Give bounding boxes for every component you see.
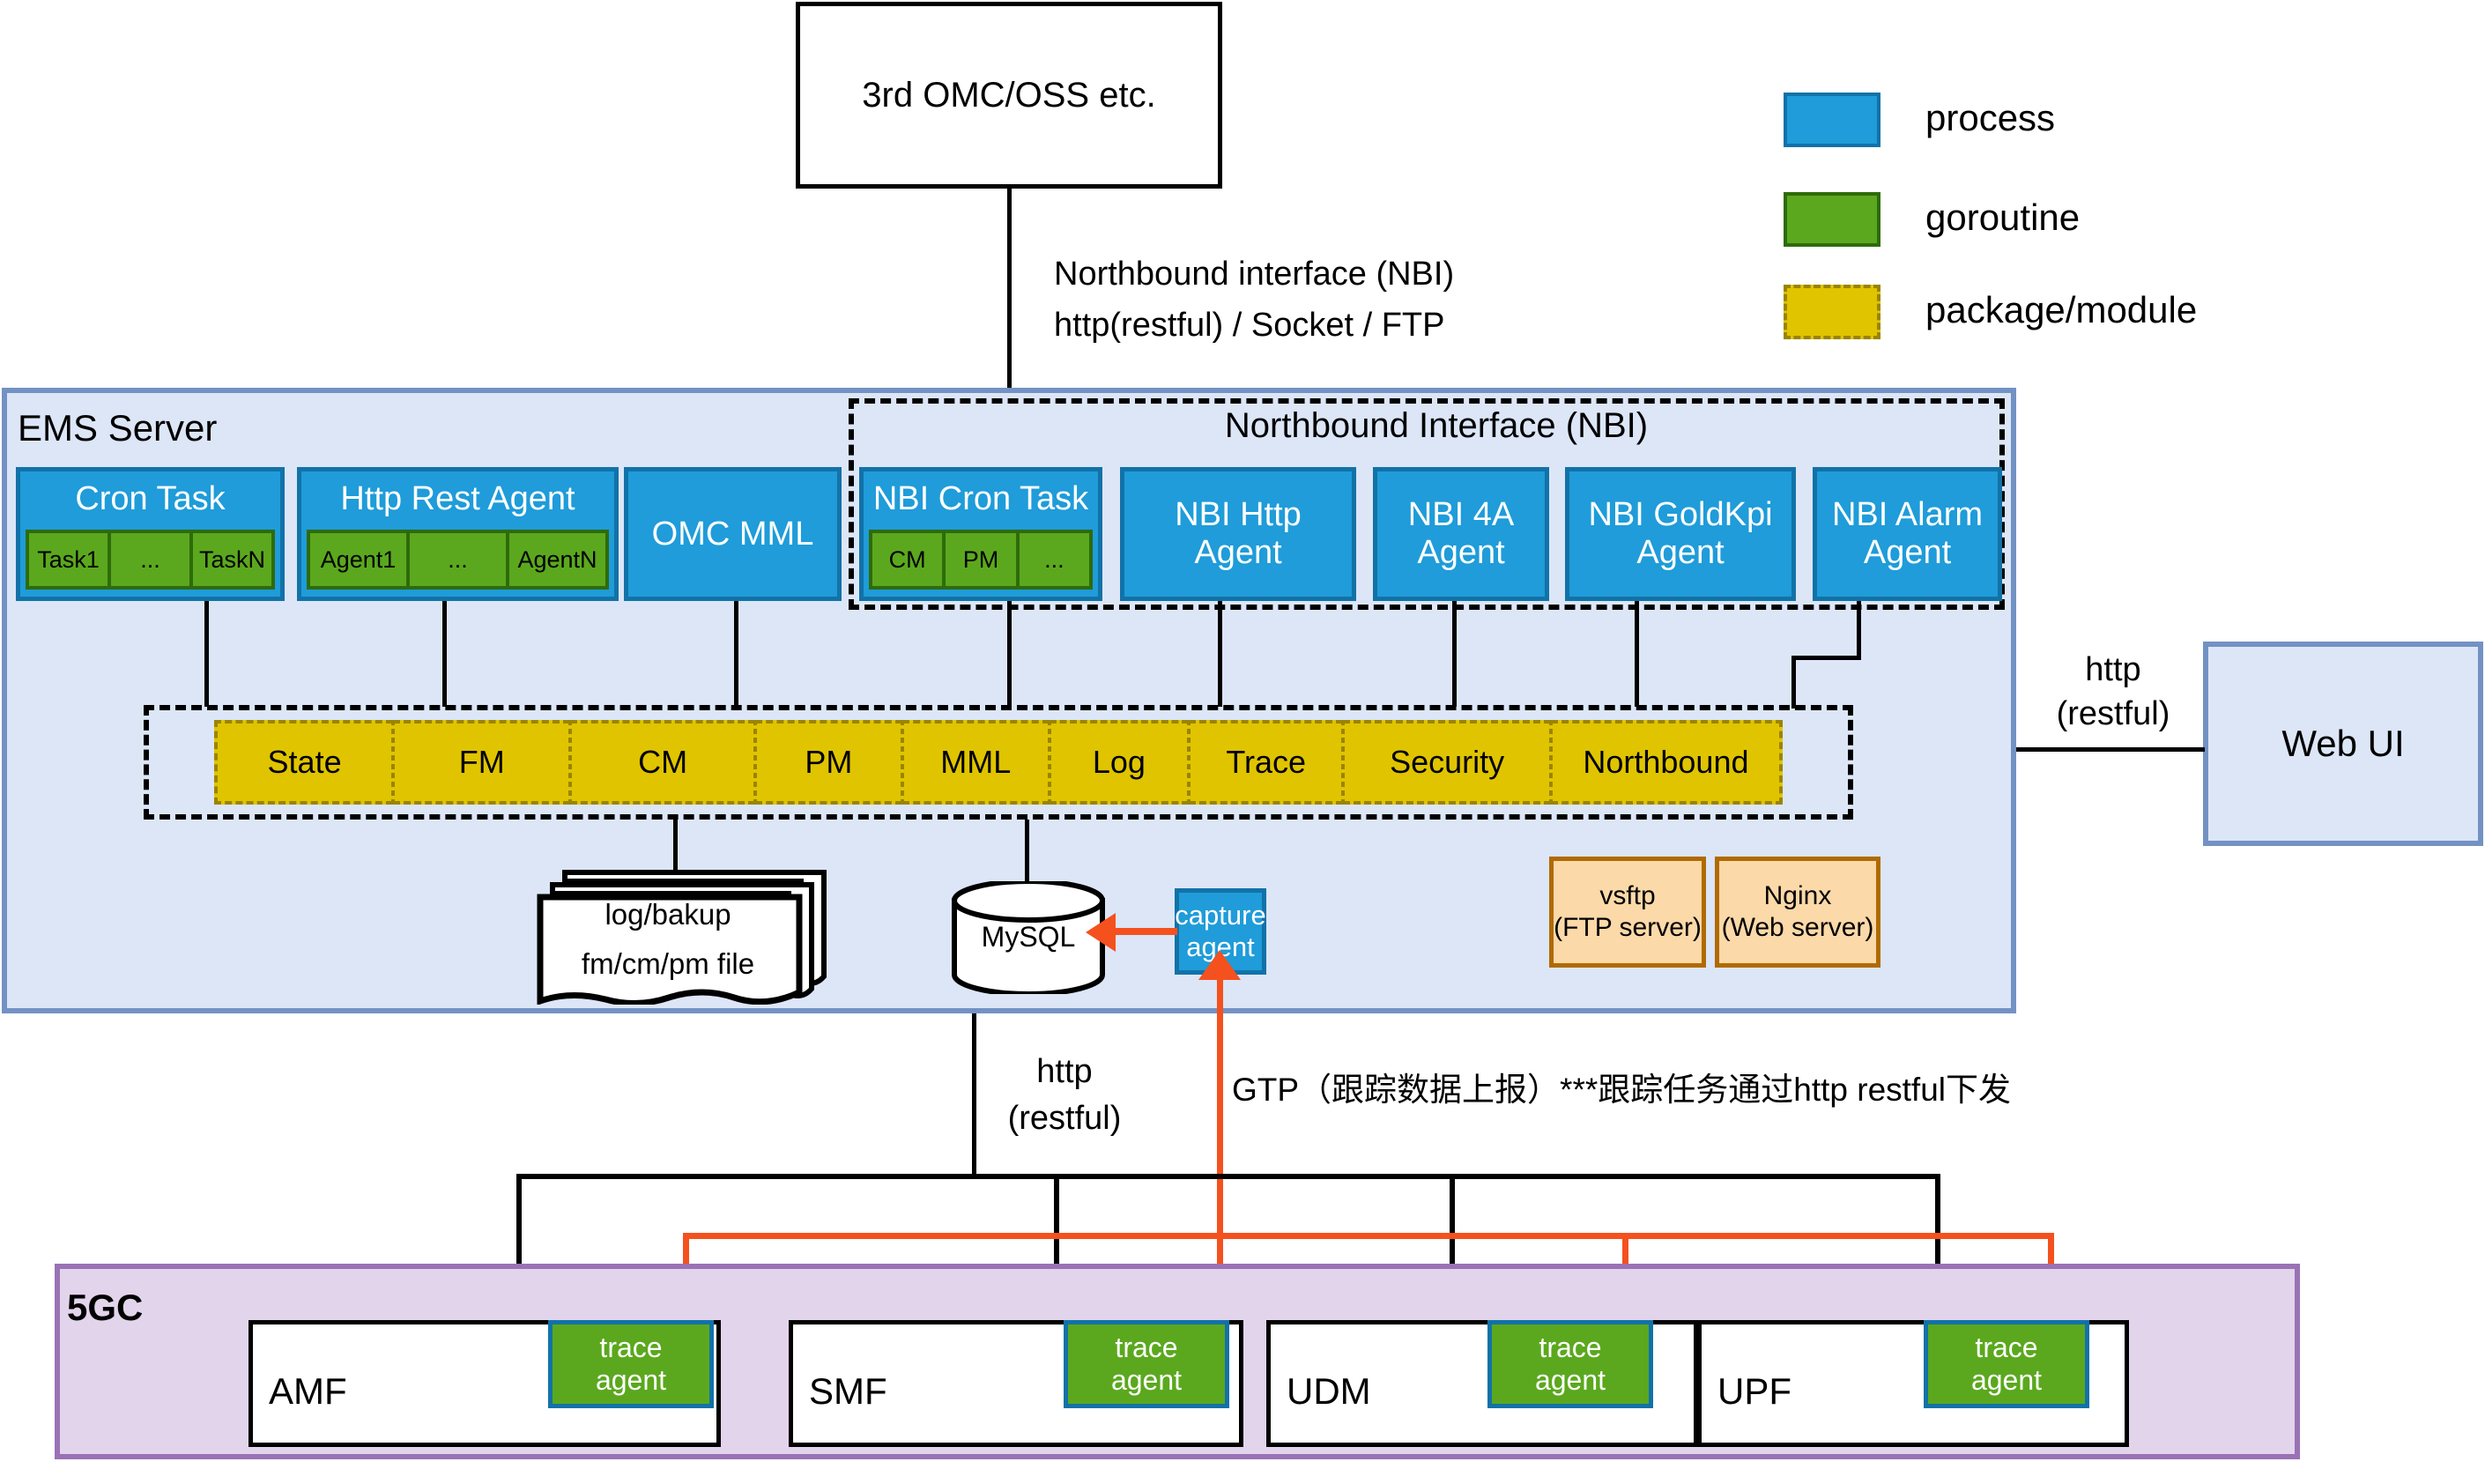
gtp-note-label: GTP（跟踪数据上报）***跟踪任务通过http restful下发 — [1232, 1063, 2011, 1110]
trace-agent-upf-line2: agent — [1971, 1364, 2042, 1397]
connector-omc-mml — [734, 601, 738, 707]
process-omc-mml[interactable]: OMC MML — [624, 467, 842, 601]
process-nbi-alarm-agent[interactable]: NBI Alarm Agent — [1813, 467, 2002, 601]
5gc-title: 5GC — [67, 1287, 143, 1329]
network-function-upf-label: UPF — [1717, 1370, 1791, 1413]
connector-nbi-http-agent — [1218, 601, 1222, 707]
service-nginx[interactable]: Nginx (Web server) — [1715, 857, 1880, 968]
process-nbi-goldkpi-agent-label: NBI GoldKpi Agent — [1569, 496, 1791, 571]
service-vsftp-line2: (FTP server) — [1554, 912, 1702, 944]
process-cron-task[interactable]: Cron Task Task1 ... TaskN — [16, 467, 285, 601]
southbound-orange-bus — [683, 1233, 2054, 1239]
goroutine-chip[interactable]: ... — [408, 530, 508, 590]
ems-server-title: EMS Server — [18, 407, 217, 449]
trace-agent-amf-line2: agent — [596, 1364, 666, 1397]
network-function-amf-label: AMF — [269, 1370, 347, 1413]
goroutine-chip[interactable]: Task1 — [26, 530, 109, 590]
gtp-uplink-line — [1217, 975, 1223, 1234]
module-state[interactable]: State — [214, 720, 393, 805]
module-cm[interactable]: CM — [570, 720, 755, 805]
nbi-uplink-line — [1007, 189, 1012, 398]
module-fm[interactable]: FM — [393, 720, 570, 805]
goroutine-chip[interactable]: PM — [944, 530, 1017, 590]
service-nginx-line2: (Web server) — [1722, 912, 1874, 944]
service-vsftp-line1: vsftp — [1599, 880, 1655, 912]
process-cron-task-label: Cron Task — [20, 471, 280, 526]
nbi-group-title: Northbound Interface (NBI) — [969, 405, 1903, 446]
webui-link-label-line2: (restful) — [2027, 696, 2199, 731]
trace-agent-udm-line1: trace — [1539, 1332, 1601, 1364]
capture-to-mysql-arrow-shaft — [1112, 928, 1177, 935]
gtp-uplink-arrow-head — [1198, 950, 1241, 980]
process-http-rest-agent-label: Http Rest Agent — [301, 471, 614, 526]
connector-http-rest-agent — [442, 601, 447, 707]
module-pm[interactable]: PM — [755, 720, 902, 805]
trace-agent-smf[interactable]: trace agent — [1064, 1320, 1229, 1408]
connector-nbi-alarm-agent-seg3 — [1791, 656, 1796, 709]
mysql-label: MySQL — [949, 922, 1108, 952]
external-omc-oss-box: 3rd OMC/OSS etc. — [796, 2, 1222, 189]
ems-southbound-line — [972, 1013, 976, 1174]
legend-label-process: process — [1925, 97, 2055, 139]
legend-label-package: package/module — [1925, 289, 2197, 331]
goroutine-chip[interactable]: AgentN — [508, 530, 609, 590]
legend-swatch-goroutine — [1784, 192, 1880, 247]
goroutine-chip[interactable]: TaskN — [191, 530, 275, 590]
ems-to-webui-line — [2016, 747, 2205, 752]
trace-agent-udm[interactable]: trace agent — [1487, 1320, 1653, 1408]
legend-label-goroutine: goroutine — [1925, 197, 2080, 239]
process-nbi-goldkpi-agent[interactable]: NBI GoldKpi Agent — [1565, 467, 1796, 601]
network-function-udm-label: UDM — [1287, 1370, 1371, 1413]
goroutine-chip[interactable]: Agent1 — [307, 530, 408, 590]
connector-nbi-goldkpi-agent — [1635, 601, 1639, 707]
process-nbi-alarm-agent-label: NBI Alarm Agent — [1817, 496, 1998, 571]
web-ui-label: Web UI — [2281, 723, 2404, 765]
process-nbi-http-agent-label: NBI Http Agent — [1124, 496, 1352, 571]
module-bar: State FM CM PM MML Log Trace Security No… — [214, 720, 1783, 805]
process-nbi-cron-task-label: NBI Cron Task — [864, 471, 1098, 526]
file-store-label-line1: log/bakup — [540, 900, 796, 930]
service-nginx-line1: Nginx — [1764, 880, 1832, 912]
process-nbi-cron-task[interactable]: NBI Cron Task CM PM ... — [859, 467, 1102, 601]
legend-swatch-process — [1784, 93, 1880, 147]
process-nbi-http-agent[interactable]: NBI Http Agent — [1120, 467, 1356, 601]
file-store-shape — [533, 864, 833, 1005]
legend-swatch-package — [1784, 285, 1880, 339]
south-http-label-line1: http — [985, 1053, 1144, 1090]
trace-agent-amf-line1: trace — [599, 1332, 662, 1364]
webui-link-label-line1: http — [2027, 652, 2199, 687]
network-function-smf-label: SMF — [809, 1370, 887, 1413]
external-omc-oss-label: 3rd OMC/OSS etc. — [862, 76, 1155, 115]
goroutine-chip[interactable]: ... — [1018, 530, 1093, 590]
trace-agent-smf-line1: trace — [1115, 1332, 1177, 1364]
trace-agent-amf[interactable]: trace agent — [548, 1320, 714, 1408]
connector-cron-task — [204, 601, 209, 707]
southbound-black-bus — [516, 1174, 1940, 1179]
connector-nbi-alarm-agent-seg1 — [1857, 601, 1861, 660]
process-nbi-4a-agent[interactable]: NBI 4A Agent — [1373, 467, 1549, 601]
connector-nbi-4a-agent — [1452, 601, 1457, 707]
connector-nbi-alarm-agent-seg2 — [1791, 656, 1861, 660]
process-omc-mml-label: OMC MML — [652, 516, 814, 553]
goroutine-chip[interactable]: CM — [869, 530, 944, 590]
trace-agent-udm-line2: agent — [1535, 1364, 1606, 1397]
service-vsftp[interactable]: vsftp (FTP server) — [1549, 857, 1706, 968]
file-store-label-line2: fm/cm/pm file — [540, 949, 796, 979]
process-nbi-4a-agent-label: NBI 4A Agent — [1377, 496, 1545, 571]
module-security[interactable]: Security — [1343, 720, 1550, 805]
module-trace[interactable]: Trace — [1189, 720, 1343, 805]
capture-to-mysql-arrow-head — [1086, 913, 1116, 952]
module-mml[interactable]: MML — [902, 720, 1050, 805]
trace-agent-upf-line1: trace — [1975, 1332, 2037, 1364]
web-ui-box[interactable]: Web UI — [2203, 642, 2483, 846]
trace-agent-upf[interactable]: trace agent — [1924, 1320, 2089, 1408]
module-log[interactable]: Log — [1050, 720, 1189, 805]
nbi-link-label-line2: http(restful) / Socket / FTP — [1054, 307, 1444, 345]
goroutine-chip[interactable]: ... — [109, 530, 191, 590]
connector-nbi-cron-task — [1007, 601, 1012, 707]
capture-agent-label-line1: capture — [1175, 900, 1265, 931]
south-http-label-line2: (restful) — [985, 1100, 1144, 1137]
module-northbound[interactable]: Northbound — [1551, 720, 1783, 805]
process-http-rest-agent[interactable]: Http Rest Agent Agent1 ... AgentN — [297, 467, 619, 601]
connector-module-to-mysql — [1025, 820, 1029, 883]
nbi-link-label-line1: Northbound interface (NBI) — [1054, 256, 1454, 293]
trace-agent-smf-line2: agent — [1111, 1364, 1182, 1397]
